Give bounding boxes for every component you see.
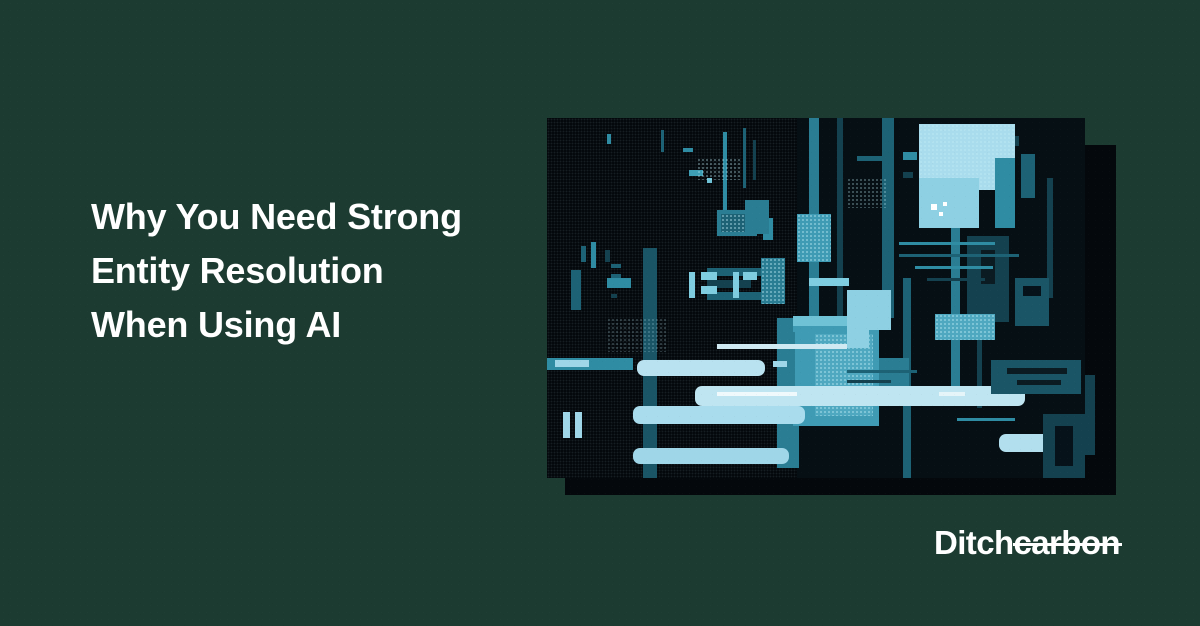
headline-line-2: Entity Resolution <box>91 244 521 298</box>
artwork <box>547 118 1107 508</box>
headline-line-3: When Using AI <box>91 298 521 352</box>
logo-prefix: Ditch <box>934 524 1014 561</box>
headline-line-1: Why You Need Strong <box>91 190 521 244</box>
page-title: Why You Need Strong Entity Resolution Wh… <box>91 190 521 352</box>
brand-logo: Ditchcarbon <box>934 524 1120 562</box>
logo-struck-word: carbon <box>1014 524 1120 561</box>
social-card: Why You Need Strong Entity Resolution Wh… <box>0 0 1200 626</box>
artwork-front-layer <box>547 118 1085 478</box>
artwork-front-canvas <box>547 118 1085 478</box>
